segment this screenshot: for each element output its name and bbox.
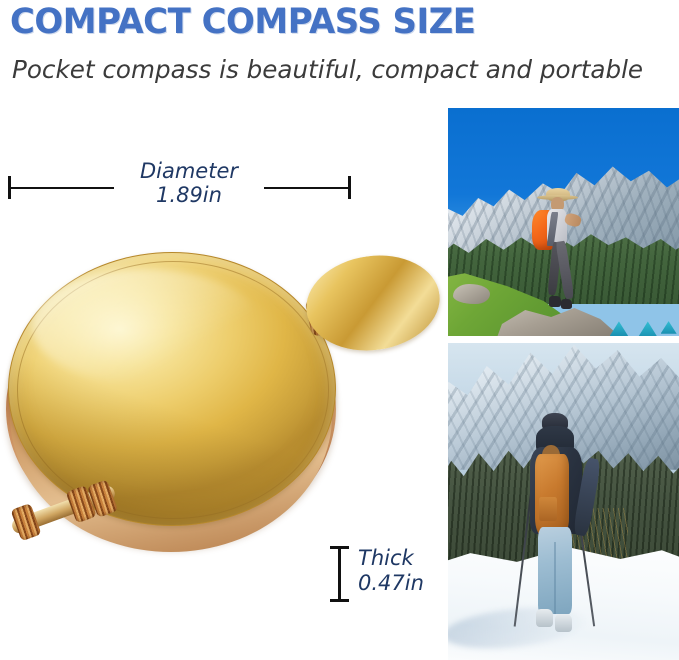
thickness-line [338,546,341,602]
hiker-backpack [535,454,570,536]
lifestyle-photo-winter [448,343,679,660]
thickness-label-value: 0.47in [358,571,424,596]
hiker-boot [549,296,560,307]
compass-hinge [3,463,126,558]
hiker-boot [561,299,572,310]
diameter-label: Diameter 1.89in [114,158,264,208]
hiker-figure [517,413,596,641]
thickness-dimension-line [330,546,348,602]
compass-body [6,252,338,552]
diameter-dimension-line: Diameter 1.89in [8,186,351,189]
hiker-jeans [538,527,573,614]
page-title: COMPACT COMPASS SIZE [10,2,475,42]
thickness-label-text: Thick [358,546,424,571]
thickness-label: Thick 0.47in [358,546,424,596]
thickness-cap-top [330,546,349,549]
diameter-cap-right [348,176,351,199]
rock [453,284,490,305]
compass-ring-assembly [294,252,434,372]
hinge-knurl [11,503,42,541]
product-image [0,236,430,566]
compass-hanging-ring [300,247,446,359]
diameter-label-value: 1.89in [119,183,259,207]
hiker-boot [536,609,553,627]
summer-scene [448,108,679,336]
hiker-boot [555,614,572,632]
page-subtitle: Pocket compass is beautiful, compact and… [12,55,643,84]
diameter-label-text: Diameter [119,159,259,183]
diameter-cap-left [8,176,11,199]
lifestyle-photo-summer [448,108,679,336]
winter-scene [448,343,679,660]
hiker-figure [531,188,591,320]
thickness-cap-bottom [330,599,349,602]
